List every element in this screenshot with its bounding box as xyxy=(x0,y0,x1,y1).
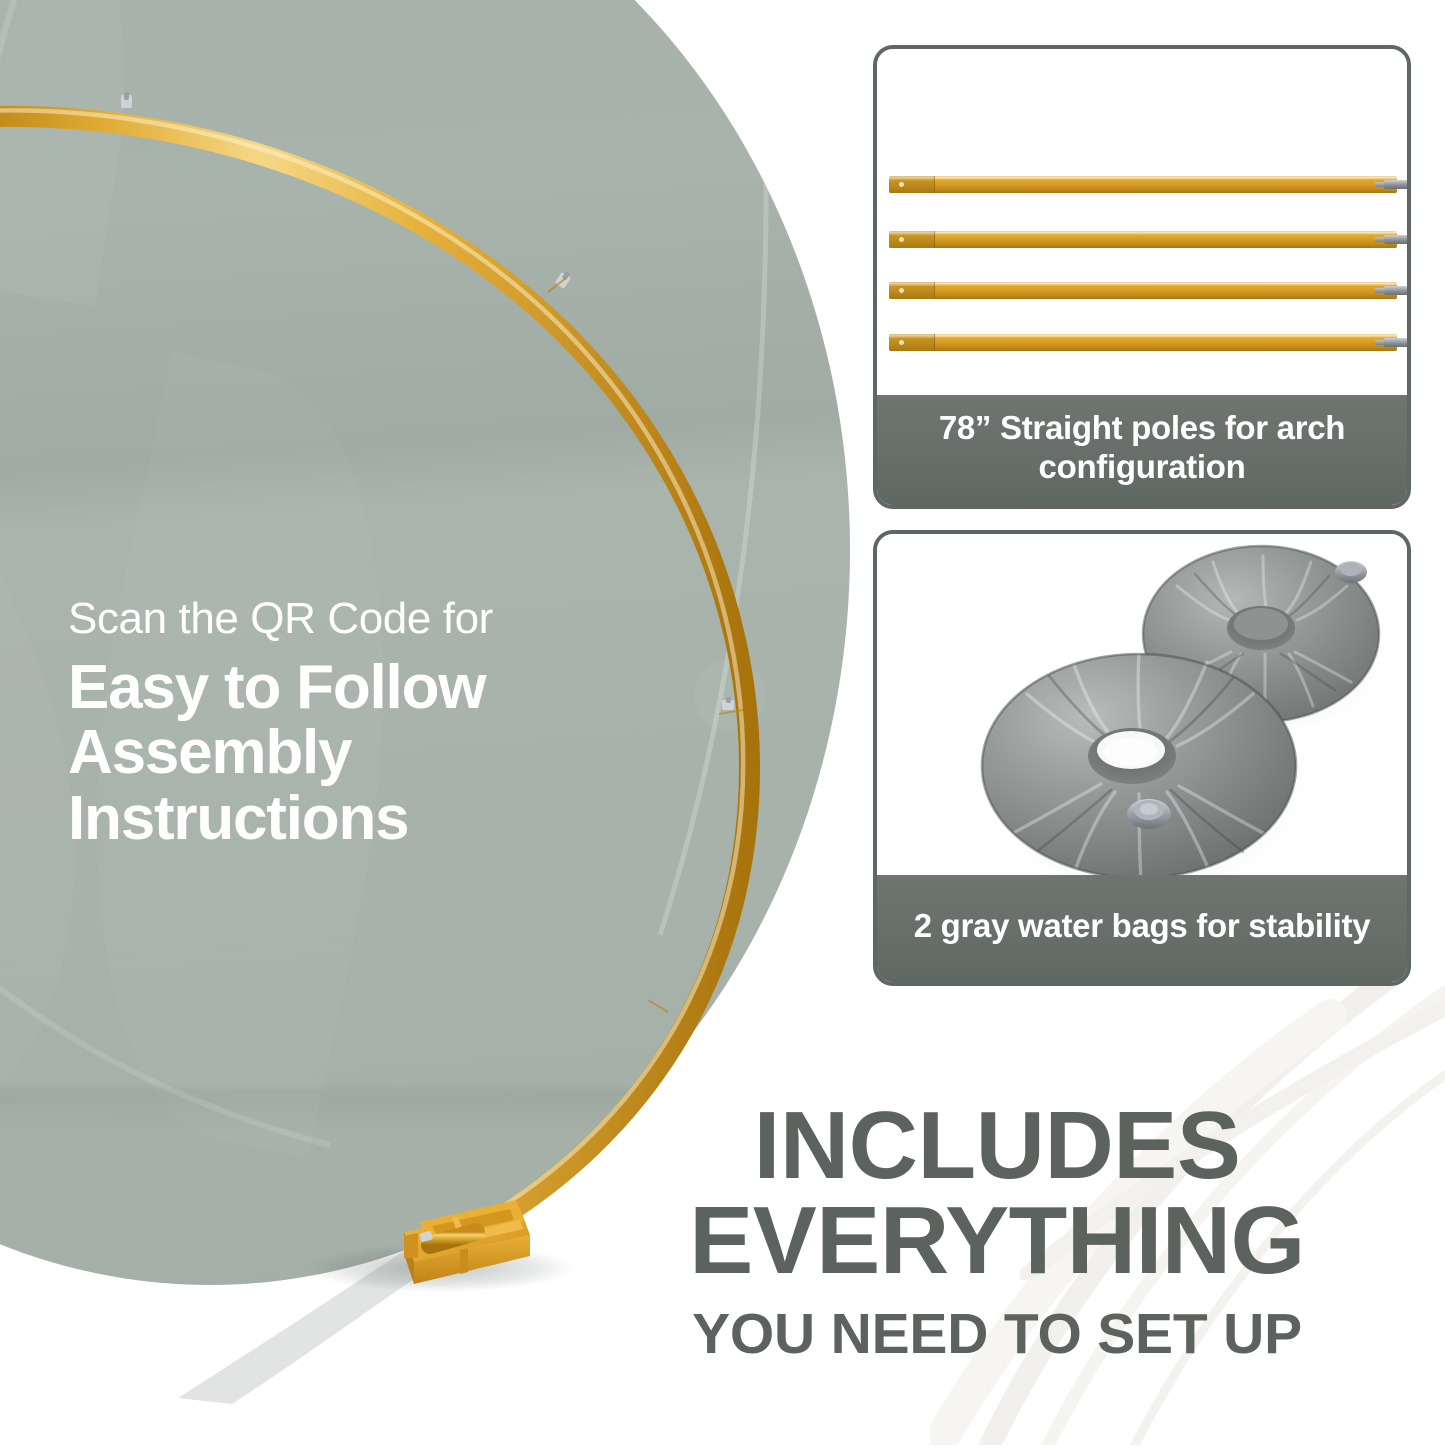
card-caption-water-bags: 2 gray water bags for stability xyxy=(877,875,1407,982)
card-caption-poles: 78” Straight poles for arch configuratio… xyxy=(877,395,1407,505)
eyebrow-text: Scan the QR Code for xyxy=(68,596,688,643)
straight-poles-photo xyxy=(877,49,1407,395)
callout-line-2: EVERYTHING xyxy=(591,1193,1403,1288)
straight-pole-item xyxy=(889,231,1397,248)
water-bag-lower xyxy=(982,652,1296,875)
straight-pole-item xyxy=(889,176,1397,193)
includes-everything-callout: INCLUDES EVERYTHING YOU NEED TO SET UP xyxy=(591,1098,1403,1363)
pole-ferrule xyxy=(889,334,935,351)
pole-connector-pin xyxy=(1384,235,1407,244)
pole-connector-pin xyxy=(1384,286,1407,295)
straight-pole-item xyxy=(889,334,1397,351)
headline-line-2: Assembly xyxy=(68,720,688,786)
pole-ferrule xyxy=(889,231,935,248)
infographic-canvas: Scan the QR Code for Easy to Follow Asse… xyxy=(0,0,1445,1445)
water-bags-photo xyxy=(877,534,1407,875)
pole-connector-pin xyxy=(1384,338,1407,347)
left-copy-block: Scan the QR Code for Easy to Follow Asse… xyxy=(68,596,688,852)
headline-line-3: Instructions xyxy=(68,786,688,852)
pole-connector-pin xyxy=(1384,180,1407,189)
callout-subline: YOU NEED TO SET UP xyxy=(591,1306,1403,1363)
headline-text: Easy to Follow Assembly Instructions xyxy=(68,655,688,852)
straight-pole-item xyxy=(889,282,1397,299)
feature-card-water-bags: 2 gray water bags for stability xyxy=(873,530,1411,986)
feature-card-poles: 78” Straight poles for arch configuratio… xyxy=(873,45,1411,509)
pole-ferrule xyxy=(889,282,935,299)
pole-ferrule xyxy=(889,176,935,193)
headline-line-1: Easy to Follow xyxy=(68,655,688,721)
callout-main-text: INCLUDES EVERYTHING xyxy=(591,1098,1403,1288)
callout-line-1: INCLUDES xyxy=(591,1098,1403,1193)
